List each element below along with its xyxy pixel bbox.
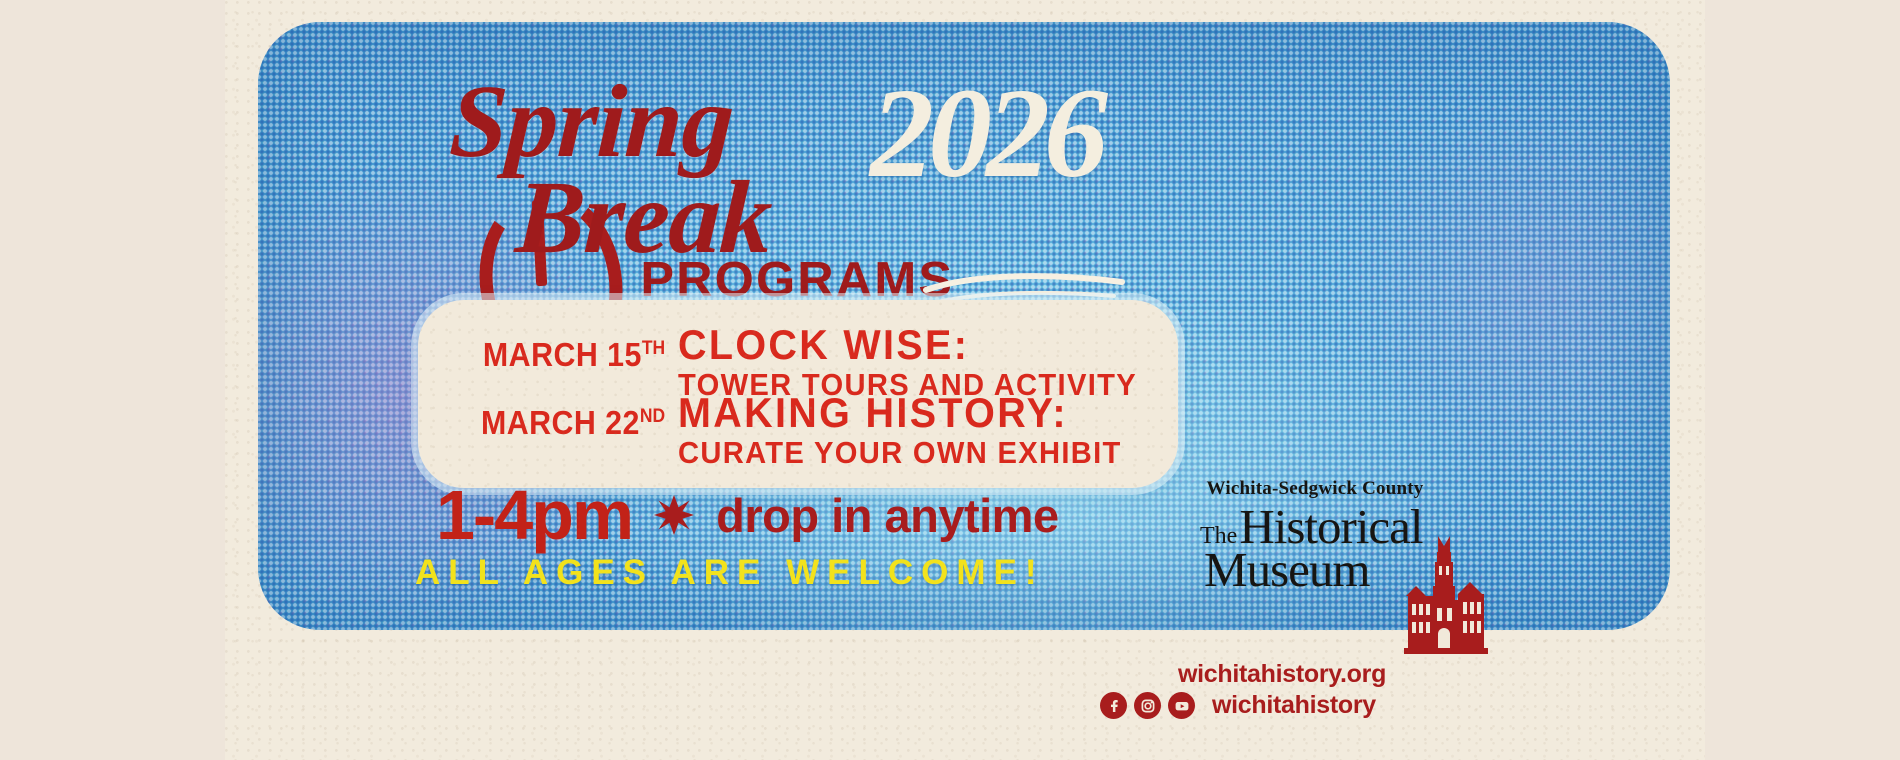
event-row: MARCH 15TH CLOCK WISE: TOWER TOURS AND A… — [452, 324, 1166, 400]
star-burst-icon — [654, 495, 694, 535]
event-subtitle: TOWER TOURS AND ACTIVITY — [678, 369, 1137, 400]
event-date: MARCH 15TH — [470, 324, 678, 374]
poster-canvas: Spring Break 2026 PROGRAMS MARCH 15TH CL… — [0, 0, 1900, 760]
drop-in-note: drop in anytime — [716, 492, 1058, 539]
social-handle-row: wichitahistory — [1100, 691, 1530, 720]
social-handle[interactable]: wichitahistory — [1212, 691, 1376, 720]
events-card: MARCH 15TH CLOCK WISE: TOWER TOURS AND A… — [418, 300, 1178, 488]
event-copy: MAKING HISTORY: CURATE YOUR OWN EXHIBIT — [678, 392, 1150, 468]
headline-lockup: Spring Break 2026 PROGRAMS — [430, 40, 1190, 310]
event-date: MARCH 22ND — [470, 392, 678, 442]
time-value: 1-4pm — [436, 480, 632, 550]
event-copy: CLOCK WISE: TOWER TOURS AND ACTIVITY — [678, 324, 1166, 400]
all-ages-banner: ALL AGES ARE WELCOME! — [415, 553, 1044, 593]
event-date-text: MARCH 15 — [483, 336, 642, 373]
museum-building-icon — [1392, 534, 1496, 656]
time-row: 1-4pm drop in anytime — [436, 480, 1059, 550]
website-url[interactable]: wichitahistory.org — [1100, 660, 1530, 689]
event-title: MAKING HISTORY: — [678, 392, 1122, 435]
event-date-suffix: ND — [640, 406, 665, 427]
facebook-icon[interactable] — [1100, 692, 1127, 719]
event-title: CLOCK WISE: — [678, 324, 1137, 367]
logo-county-line: Wichita-Sedgwick County — [1190, 478, 1440, 500]
headline-year: 2026 — [870, 60, 1102, 207]
instagram-icon[interactable] — [1134, 692, 1161, 719]
contact-block: wichitahistory.org wichitahistory — [1100, 660, 1530, 720]
event-date-suffix: TH — [642, 338, 665, 359]
event-date-text: MARCH 22 — [481, 404, 640, 441]
museum-logo: Wichita-Sedgwick County TheHistorical Mu… — [1190, 478, 1490, 658]
event-row: MARCH 22ND MAKING HISTORY: CURATE YOUR O… — [452, 392, 1150, 468]
youtube-icon[interactable] — [1168, 692, 1195, 719]
event-subtitle: CURATE YOUR OWN EXHIBIT — [678, 437, 1122, 468]
